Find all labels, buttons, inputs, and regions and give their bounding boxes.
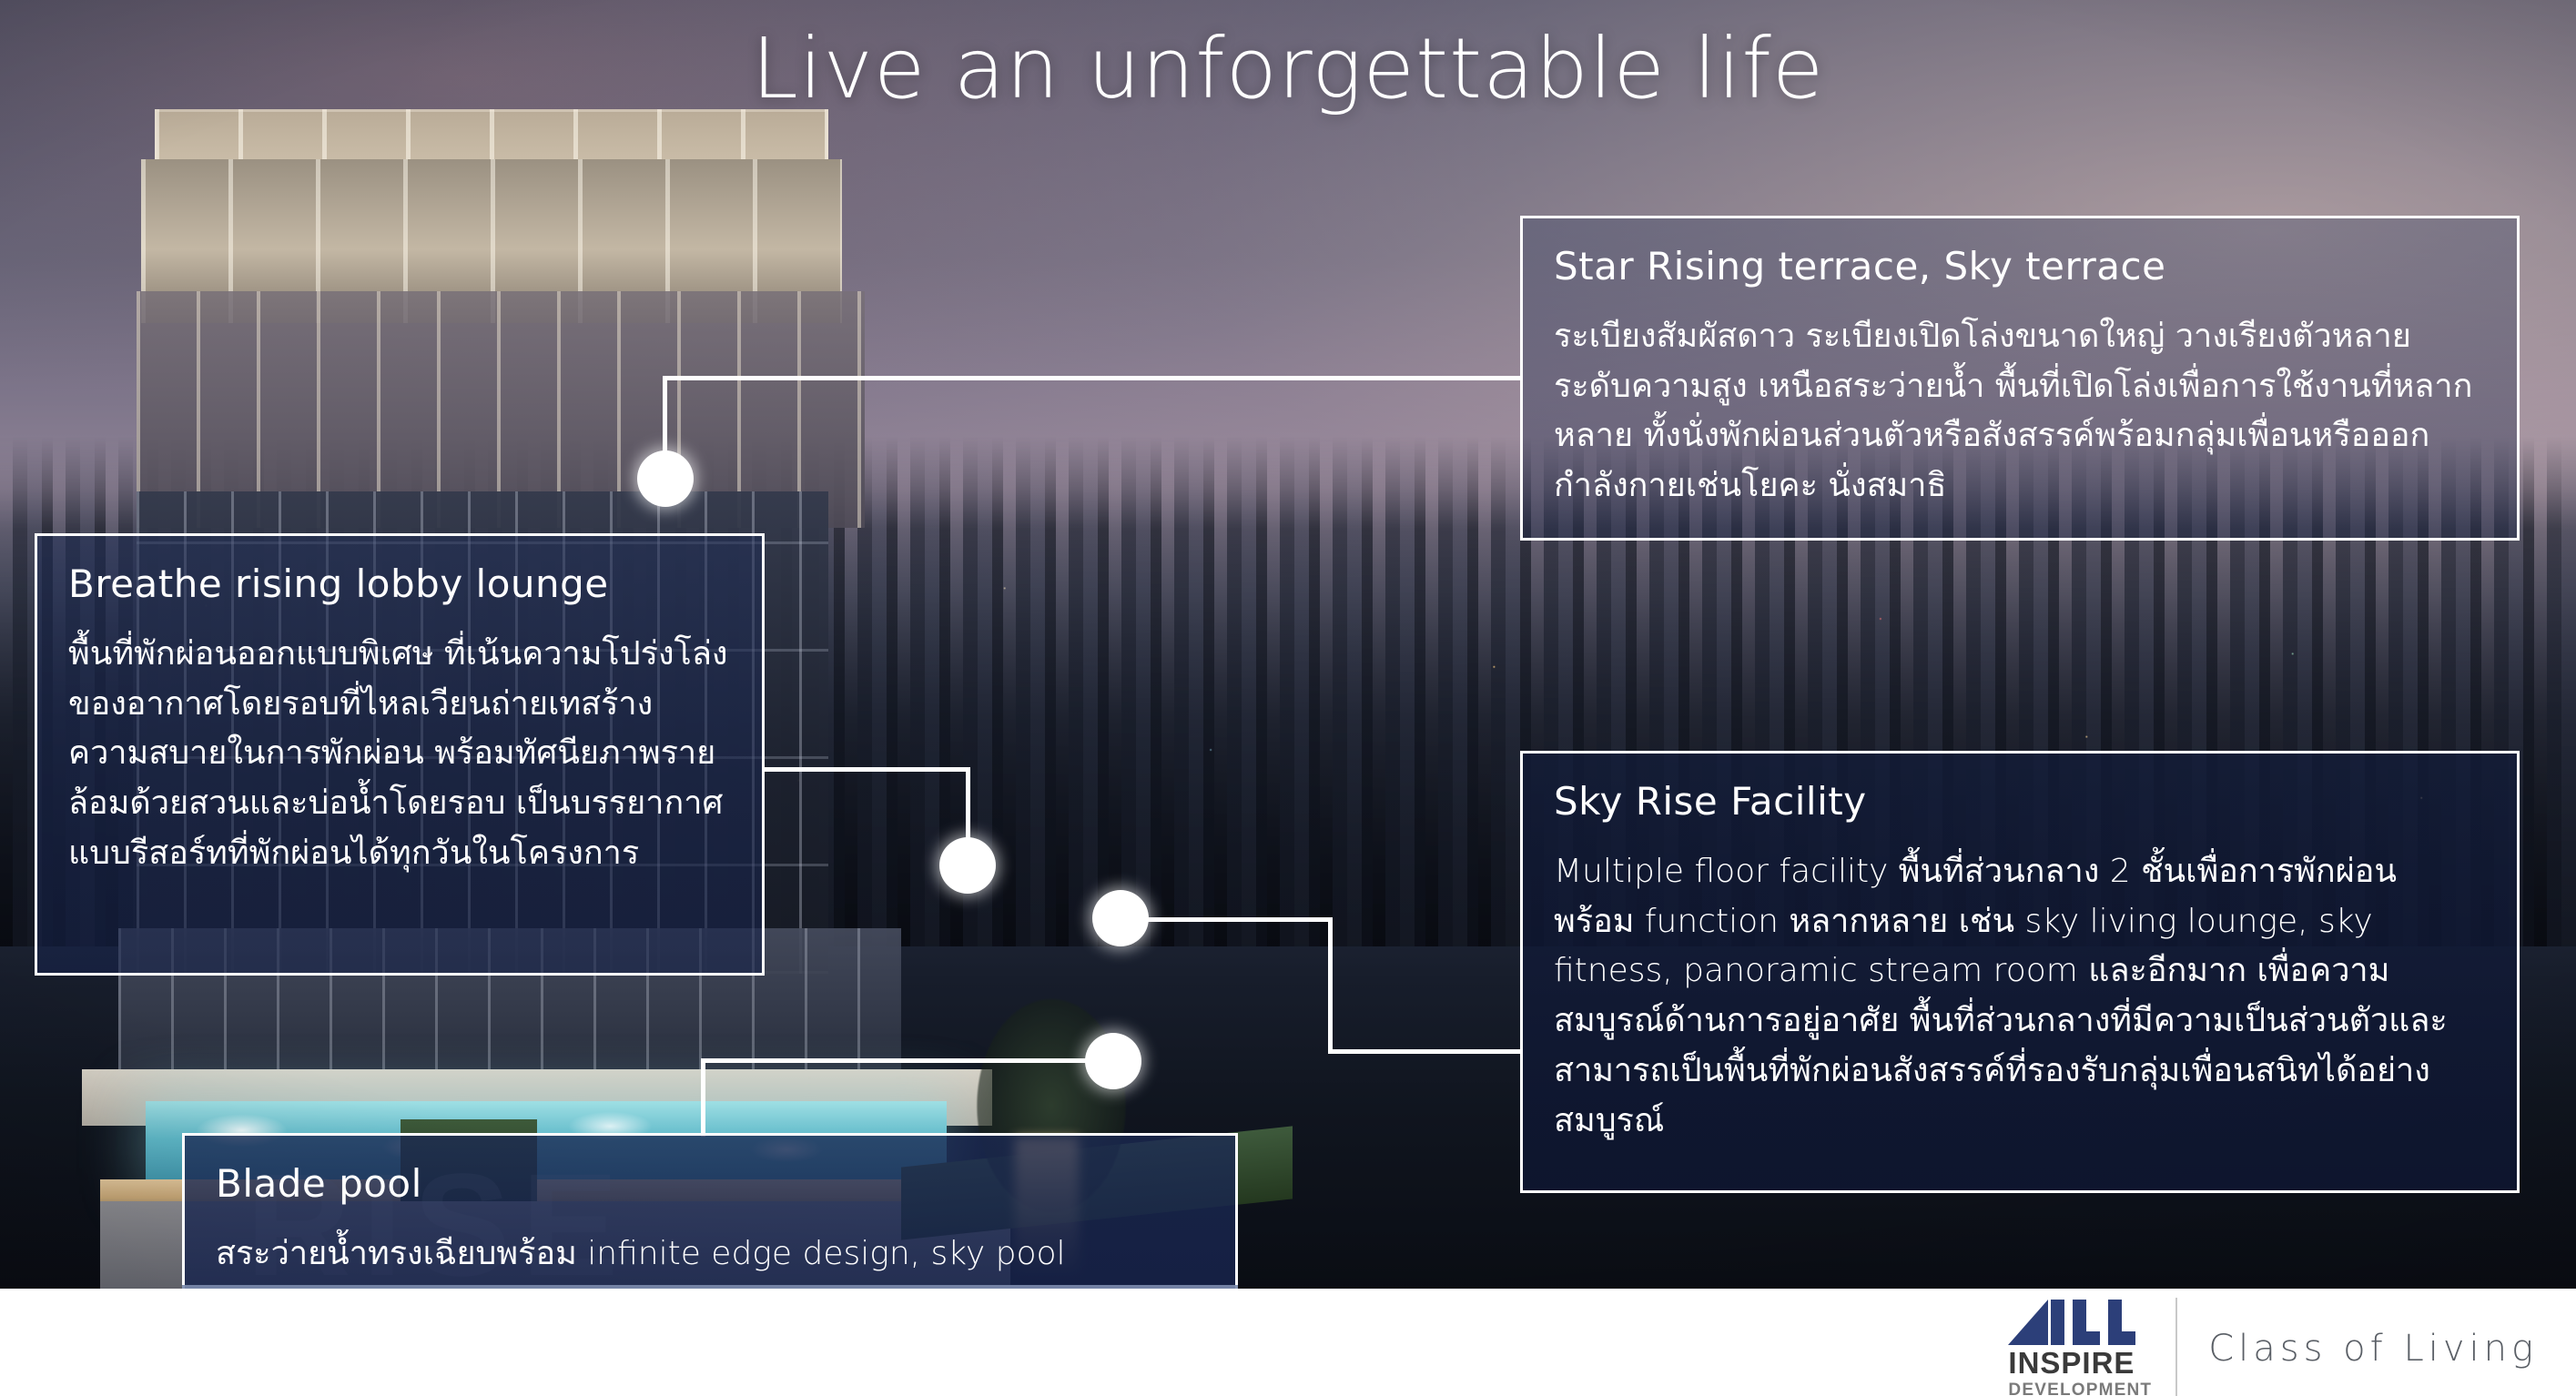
leader-line-star-rising-horizontal <box>663 376 1522 380</box>
leader-line-blade-pool-vertical <box>701 1058 705 1137</box>
logo-tagline: Class of Living <box>2177 1328 2538 1370</box>
marker-dot-lobby-lounge[interactable] <box>939 837 996 894</box>
callout-title-sky-rise: Sky Rise Facility <box>1554 779 2486 824</box>
callout-title-lobby-lounge: Breathe rising lobby lounge <box>68 561 731 606</box>
marker-dot-star-rising[interactable] <box>637 450 694 507</box>
slide-canvas: RISE Live an unforgettable life Star Ris… <box>0 0 2576 1396</box>
letter-l-2 <box>2108 1300 2135 1345</box>
callout-star-rising-terrace[interactable]: Star Rising terrace, Sky terrace ระเบียง… <box>1520 216 2520 541</box>
marker-dot-blade-pool[interactable] <box>1085 1033 1141 1089</box>
leader-line-blade-pool-horizontal <box>701 1058 1121 1063</box>
leader-line-sky-rise-vertical <box>1328 917 1333 1054</box>
callout-body-lobby-lounge: พื้นที่พักผ่อนออกแบบพิเศษ ที่เน้นความโปร… <box>68 630 731 879</box>
leader-line-sky-rise-horizontal-1 <box>1120 917 1333 922</box>
callout-body-blade-pool: สระว่ายน้ำทรงเฉียบพร้อม infinite edge de… <box>216 1229 1204 1280</box>
logo-inspire-text: INSPIRE <box>2008 1348 2135 1378</box>
triangle-a-icon <box>2008 1300 2048 1345</box>
callout-title-blade-pool: Blade pool <box>216 1161 1204 1206</box>
page-title: Live an unforgettable life <box>0 20 2576 117</box>
leader-line-sky-rise-horizontal-2 <box>1328 1049 1523 1054</box>
all-wordmark-icon <box>2008 1298 2135 1345</box>
callout-breathe-rising-lobby-lounge[interactable]: Breathe rising lobby lounge พื้นที่พักผ่… <box>35 533 765 976</box>
leader-line-lobby-horizontal <box>763 767 970 772</box>
letter-l-2-stem <box>2108 1300 2122 1331</box>
callout-sky-rise-facility[interactable]: Sky Rise Facility Multiple floor facilit… <box>1520 751 2520 1193</box>
letter-l-1-foot <box>2073 1331 2100 1345</box>
logo-development-text: DEVELOPMENT <box>2008 1381 2152 1396</box>
letter-l-1 <box>2073 1300 2100 1345</box>
callout-title-star-rising: Star Rising terrace, Sky terrace <box>1554 244 2486 288</box>
brand-logo-block[interactable]: INSPIRE DEVELOPMENT Class of Living <box>2008 1298 2538 1396</box>
letter-stem-1 <box>2051 1300 2064 1345</box>
marker-dot-sky-rise-facility[interactable] <box>1092 890 1149 946</box>
letter-l-2-foot <box>2108 1331 2135 1345</box>
callout-body-star-rising: ระเบียงสัมผัสดาว ระเบียงเปิดโล่งขนาดใหญ่… <box>1554 312 2486 511</box>
letter-l-1-stem <box>2073 1300 2086 1331</box>
callout-body-sky-rise: Multiple floor facility พื้นที่ส่วนกลาง … <box>1554 847 2486 1146</box>
all-inspire-logo: INSPIRE DEVELOPMENT <box>2008 1298 2177 1396</box>
